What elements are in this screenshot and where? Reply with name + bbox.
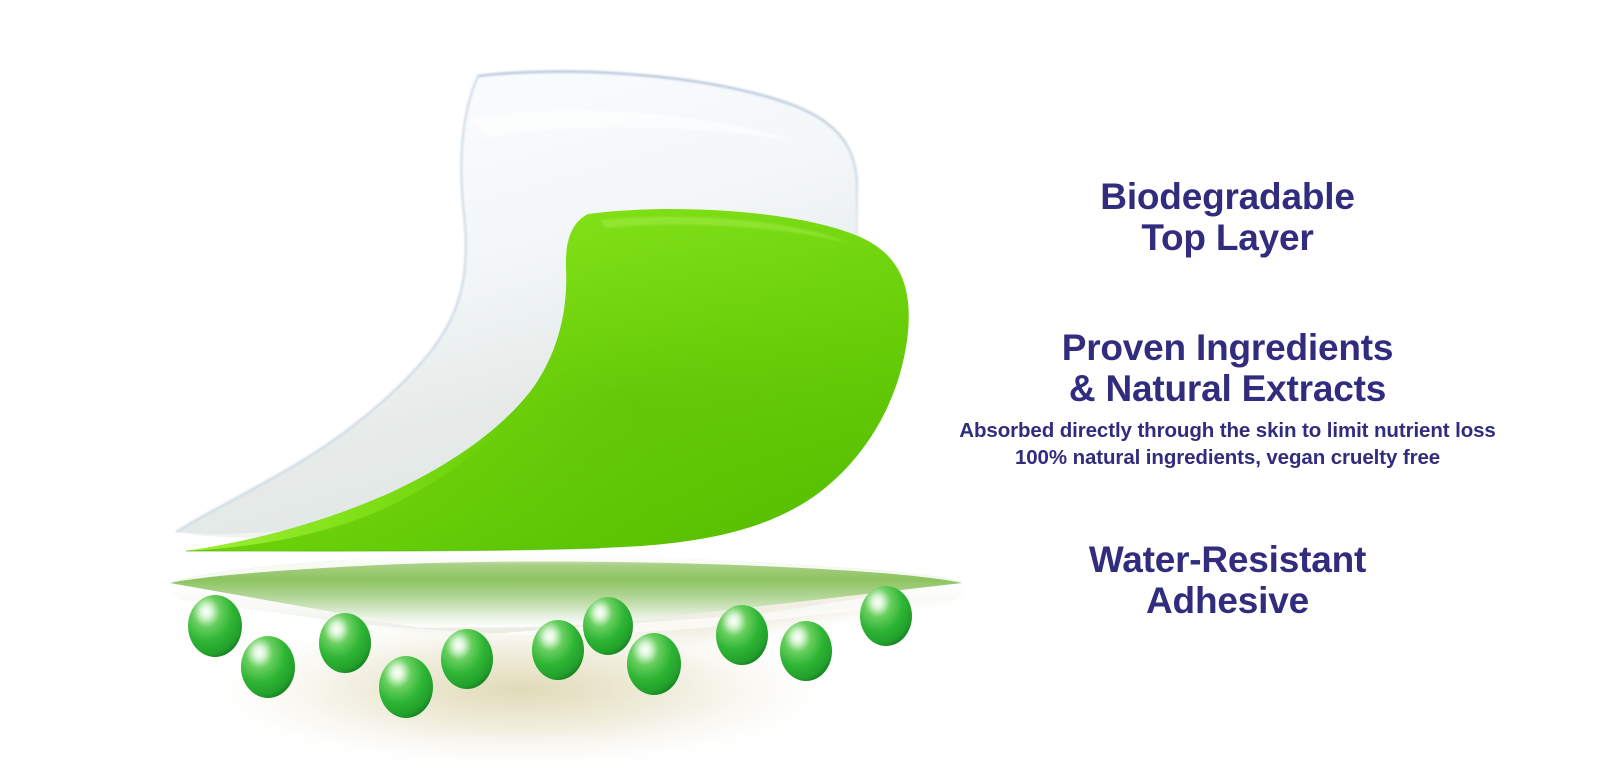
label-biodegradable-top-layer: Biodegradable Top Layer [855, 176, 1600, 259]
illustration-svg [0, 0, 1000, 784]
label-title: Proven Ingredients & Natural Extracts [855, 327, 1600, 410]
adhesive-droplet [441, 629, 493, 689]
label-title: Water-Resistant Adhesive [855, 539, 1600, 622]
adhesive-droplet [532, 620, 584, 680]
adhesive-droplet [188, 595, 242, 657]
label-title: Biodegradable Top Layer [855, 176, 1600, 259]
patch-layers-illustration [0, 0, 1000, 784]
adhesive-droplet [379, 656, 433, 718]
adhesive-droplet [716, 605, 768, 665]
label-column: Biodegradable Top Layer Proven Ingredien… [855, 0, 1600, 784]
label-subtitle: Absorbed directly through the skin to li… [855, 417, 1600, 471]
adhesive-droplet [241, 636, 295, 698]
label-water-resistant-adhesive: Water-Resistant Adhesive [855, 539, 1600, 622]
adhesive-droplet [627, 633, 681, 695]
diagram-canvas: Biodegradable Top Layer Proven Ingredien… [0, 0, 1600, 784]
adhesive-droplet [780, 621, 832, 681]
adhesive-droplet [583, 597, 633, 655]
adhesive-droplet [319, 613, 371, 673]
label-proven-ingredients: Proven Ingredients & Natural Extracts Ab… [855, 327, 1600, 471]
